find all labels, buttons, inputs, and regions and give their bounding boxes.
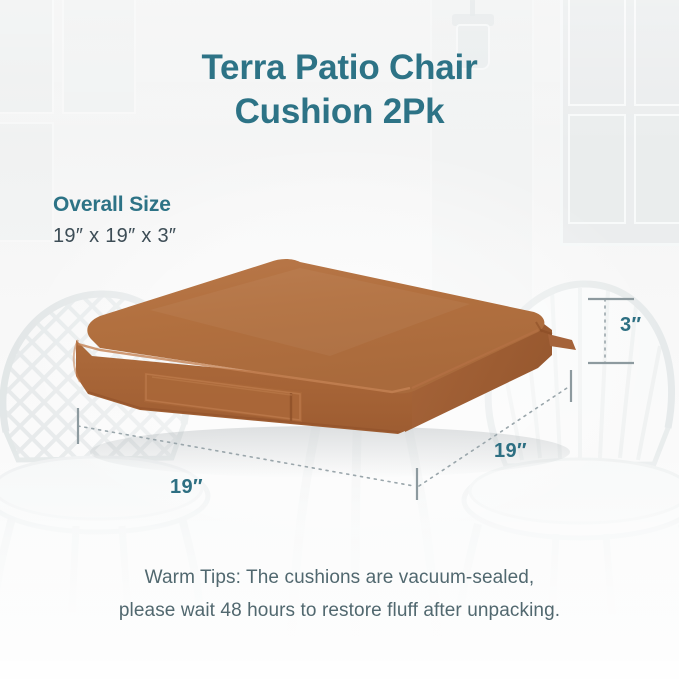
page-title-line1: Terra Patio Chair bbox=[0, 46, 679, 90]
dimension-height-label: 3″ bbox=[620, 314, 642, 337]
product-infographic: Terra Patio Chair Cushion 2Pk Overall Si… bbox=[0, 0, 679, 679]
dimension-width-label: 19″ bbox=[170, 476, 203, 499]
warm-tips-line1: Warm Tips: The cushions are vacuum-seale… bbox=[0, 561, 679, 594]
warm-tips-line2: please wait 48 hours to restore fluff af… bbox=[0, 594, 679, 627]
page-title: Terra Patio Chair Cushion 2Pk bbox=[0, 46, 679, 134]
cushion-3d bbox=[74, 259, 576, 434]
warm-tips: Warm Tips: The cushions are vacuum-seale… bbox=[0, 561, 679, 627]
page-title-line2: Cushion 2Pk bbox=[0, 90, 679, 134]
overall-size-label: Overall Size bbox=[53, 192, 176, 218]
dimension-depth-label: 19″ bbox=[494, 440, 527, 463]
overall-size-block: Overall Size 19″ x 19″ x 3″ bbox=[53, 192, 176, 250]
overall-size-value: 19″ x 19″ x 3″ bbox=[53, 222, 176, 250]
